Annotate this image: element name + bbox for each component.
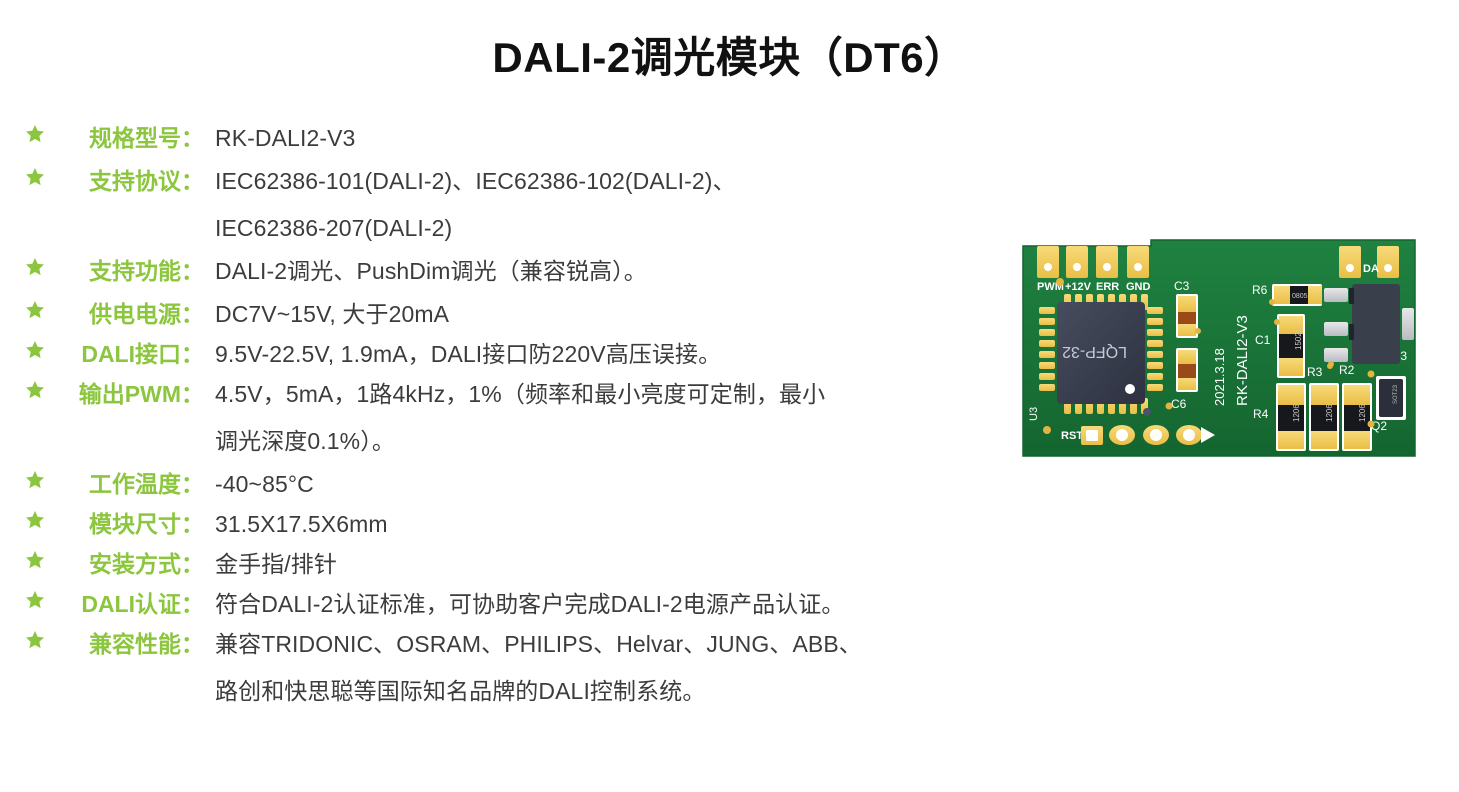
bullet-cell: [0, 587, 46, 616]
svg-text:0805: 0805: [1292, 293, 1308, 300]
pcb-label-err: ERR: [1096, 281, 1119, 293]
spec-label: 供电电源：: [46, 297, 204, 331]
spec-label: 模块尺寸：: [46, 507, 204, 541]
spec-value: 符合DALI-2认证标准，可协助客户完成DALI-2电源产品认证。: [204, 587, 844, 621]
spec-label: 输出PWM：: [46, 377, 204, 411]
spec-value-line: 路创和快思聪等国际知名品牌的DALI控制系统。: [215, 674, 862, 708]
spec-row: 安装方式： 金手指/排针: [0, 547, 1000, 581]
bullet-cell: [0, 377, 46, 406]
spec-value-line: DC7V~15V, 大于20mA: [215, 297, 449, 331]
pcb-label-r3: R3: [1307, 365, 1323, 379]
spec-row: 工作温度： -40~85°C: [0, 467, 1000, 501]
spec-value: RK-DALI2-V3: [204, 121, 355, 155]
pcb-label-c3: C3: [1174, 279, 1190, 293]
svg-text:SOT23: SOT23: [1393, 384, 1399, 404]
spec-label: 工作温度：: [46, 467, 204, 501]
spec-label: DALI接口：: [46, 337, 204, 371]
star-icon: [24, 469, 46, 491]
bullet-cell: [0, 297, 46, 326]
star-icon: [24, 509, 46, 531]
pcb-passive-r2: 1206: [1342, 383, 1372, 451]
spec-value: DC7V~15V, 大于20mA: [204, 297, 449, 331]
page-title: DALI-2调光模块（DT6）: [0, 24, 1459, 85]
bullet-cell: [0, 507, 46, 536]
pcb-label-c1: C1: [1255, 333, 1271, 347]
pcb-label-r6: R6: [1252, 283, 1268, 297]
svg-text:1502L: 1502L: [1294, 327, 1303, 350]
spec-value-line: IEC62386-207(DALI-2): [215, 211, 736, 245]
star-icon: [24, 299, 46, 321]
pcb-board-name: RK-DALI2-V3: [1234, 315, 1251, 406]
pcb-svg: PWM +12V ERR GND DA C3 C6 R6 C1 R3 R2 R4…: [1019, 236, 1419, 460]
star-icon: [24, 589, 46, 611]
bullet-cell: [0, 121, 46, 150]
spec-value-line: 4.5V，5mA，1路4kHz，1%（频率和最小亮度可定制，最小: [215, 377, 825, 411]
pcb-mcu-marking: LQFP-32: [1062, 343, 1127, 360]
spec-value: IEC62386-101(DALI-2)、IEC62386-102(DALI-2…: [204, 164, 736, 245]
spec-row: 兼容性能： 兼容TRIDONIC、OSRAM、PHILIPS、Helvar、JU…: [0, 627, 1000, 708]
spec-label: 安装方式：: [46, 547, 204, 581]
spec-row: DALI接口： 9.5V-22.5V, 1.9mA，DALI接口防220V高压误…: [0, 337, 1000, 371]
spec-row: 供电电源： DC7V~15V, 大于20mA: [0, 297, 1000, 331]
spec-value: -40~85°C: [204, 467, 314, 501]
pcb-label-r4: R4: [1253, 407, 1269, 421]
spec-value-line: DALI-2调光、PushDim调光（兼容锐高）。: [215, 254, 647, 288]
star-icon: [24, 123, 46, 145]
star-icon: [24, 549, 46, 571]
spec-value-line: 9.5V-22.5V, 1.9mA，DALI接口防220V高压误接。: [215, 337, 721, 371]
pcb-passive-c3: [1176, 294, 1201, 338]
spec-value-line: 兼容TRIDONIC、OSRAM、PHILIPS、Helvar、JUNG、ABB…: [215, 627, 862, 661]
pcb-opto-pads: [1324, 288, 1348, 367]
pcb-board-date: 2021.3.18: [1212, 348, 1227, 406]
spec-row: 支持功能： DALI-2调光、PushDim调光（兼容锐高）。: [0, 254, 1000, 288]
pcb-label-r2: R2: [1339, 363, 1355, 377]
pcb-mcu: LQFP-32: [1039, 294, 1163, 414]
star-icon: [24, 629, 46, 651]
spec-label: 兼容性能：: [46, 627, 204, 661]
spec-row: 支持协议： IEC62386-101(DALI-2)、IEC62386-102(…: [0, 164, 1000, 245]
bullet-cell: [0, 627, 46, 656]
spec-value-line: RK-DALI2-V3: [215, 121, 355, 155]
star-icon: [24, 256, 46, 278]
pcb-label-gnd: GND: [1126, 281, 1151, 293]
star-icon: [24, 379, 46, 401]
star-icon: [24, 166, 46, 188]
pcb-label-c6: C6: [1171, 397, 1187, 411]
pcb-label-da: DA: [1363, 263, 1379, 275]
pcb-module-image: PWM +12V ERR GND DA C3 C6 R6 C1 R3 R2 R4…: [1019, 236, 1419, 460]
spec-value: 金手指/排针: [204, 547, 337, 581]
bullet-cell: [0, 164, 46, 193]
spec-list: 规格型号： RK-DALI2-V3 支持协议： IEC62386-101(DAL…: [0, 121, 1000, 717]
spec-value-line: IEC62386-101(DALI-2)、IEC62386-102(DALI-2…: [215, 164, 736, 198]
pcb-passive-r4: 1206: [1276, 383, 1306, 451]
pcb-label-u3: U3: [1028, 407, 1040, 421]
spec-row: 模块尺寸： 31.5X17.5X6mm: [0, 507, 1000, 541]
svg-text:1206: 1206: [1358, 404, 1367, 422]
spec-row: DALI认证： 符合DALI-2认证标准，可协助客户完成DALI-2电源产品认证…: [0, 587, 1000, 621]
pcb-passive-r3: 1206: [1309, 383, 1339, 451]
spec-value: 9.5V-22.5V, 1.9mA，DALI接口防220V高压误接。: [204, 337, 721, 371]
spec-label: DALI认证：: [46, 587, 204, 621]
spec-value-line: 符合DALI-2认证标准，可协助客户完成DALI-2电源产品认证。: [215, 587, 844, 621]
svg-text:1206: 1206: [1292, 404, 1301, 422]
pcb-label-12v: +12V: [1065, 281, 1092, 293]
spec-value: 兼容TRIDONIC、OSRAM、PHILIPS、Helvar、JUNG、ABB…: [204, 627, 862, 708]
bullet-cell: [0, 254, 46, 283]
svg-text:1206: 1206: [1325, 404, 1334, 422]
star-icon: [24, 339, 46, 361]
spec-row: 输出PWM： 4.5V，5mA，1路4kHz，1%（频率和最小亮度可定制，最小 …: [0, 377, 1000, 458]
spec-value-line: 31.5X17.5X6mm: [215, 507, 388, 541]
spec-value-line: -40~85°C: [215, 467, 314, 501]
pcb-label-rst: RST: [1061, 430, 1083, 442]
spec-label: 支持功能：: [46, 254, 204, 288]
spec-value: 31.5X17.5X6mm: [204, 507, 388, 541]
bullet-cell: [0, 547, 46, 576]
spec-value-line: 金手指/排针: [215, 547, 337, 581]
spec-value: 4.5V，5mA，1路4kHz，1%（频率和最小亮度可定制，最小 调光深度0.1…: [204, 377, 825, 458]
spec-label: 规格型号：: [46, 121, 204, 155]
spec-row: 规格型号： RK-DALI2-V3: [0, 121, 1000, 155]
spec-value: DALI-2调光、PushDim调光（兼容锐高）。: [204, 254, 647, 288]
pcb-passive-r6: 0805: [1269, 284, 1322, 306]
bullet-cell: [0, 337, 46, 366]
spec-label: 支持协议：: [46, 164, 204, 198]
bullet-cell: [0, 467, 46, 496]
spec-value-line: 调光深度0.1%）。: [215, 424, 825, 458]
